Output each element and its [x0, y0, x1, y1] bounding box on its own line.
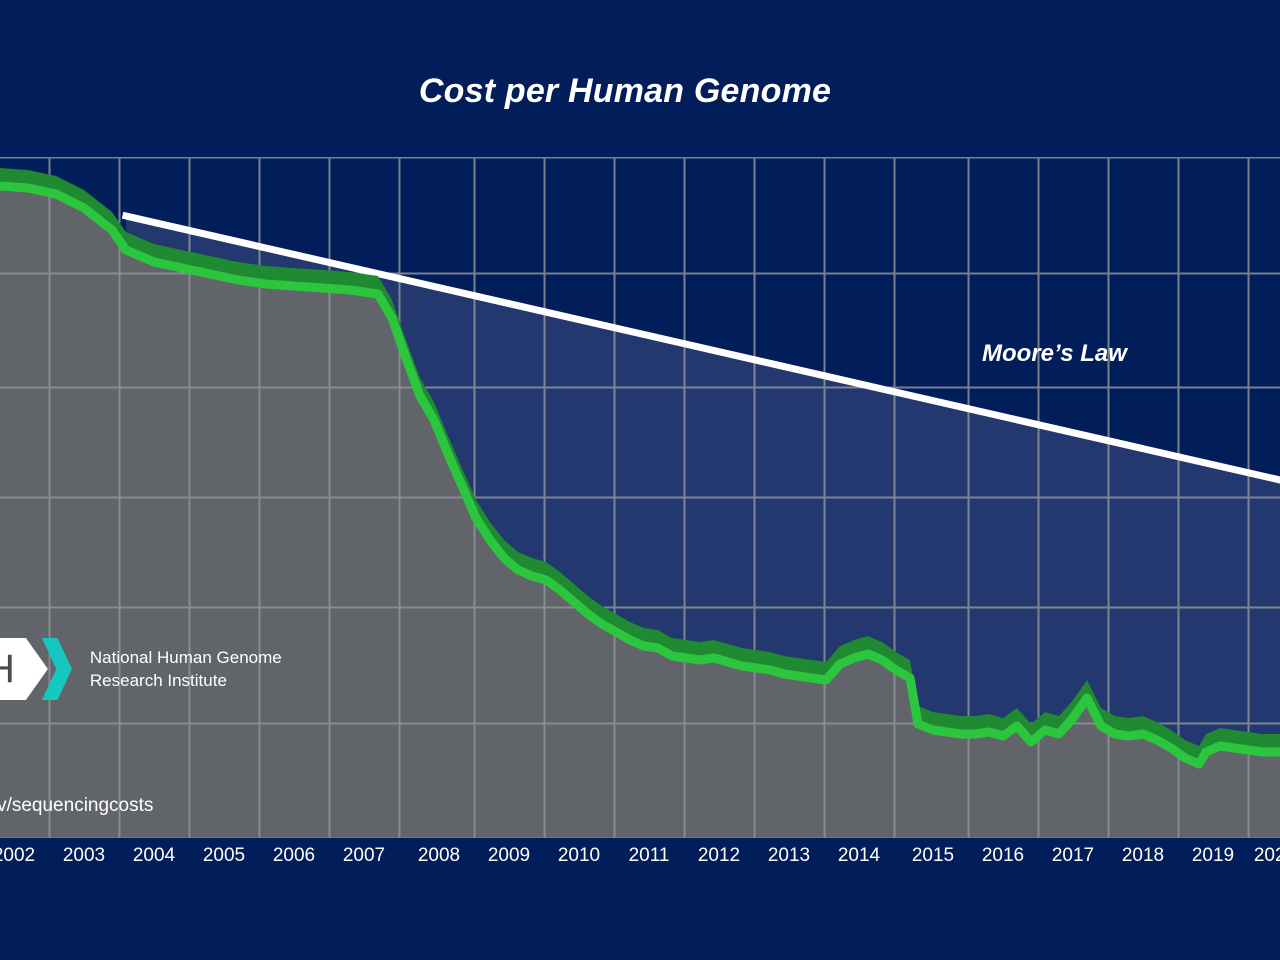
nhgri-logo: NIH National Human Genome Research Insti… [0, 638, 282, 700]
logo-text-line-1: National Human Genome [90, 646, 282, 669]
nhgri-logo-text: National Human Genome Research Institute [90, 646, 282, 693]
x-axis-tick-label: 2009 [488, 845, 530, 867]
plot-area [0, 157, 1280, 838]
chart-canvas: Cost per Human Genome [0, 0, 1280, 960]
x-axis-tick-label: 2003 [63, 845, 105, 867]
x-axis-tick-label: 2014 [838, 845, 880, 867]
x-axis-tick-label: 2013 [768, 845, 810, 867]
x-axis-tick-label: 2011 [629, 845, 670, 867]
x-axis-tick-label: 2007 [343, 845, 385, 867]
x-axis-tick-label: 2016 [982, 845, 1024, 867]
x-axis-tick-label: 2004 [133, 845, 175, 867]
x-axis-tick-label: 2005 [203, 845, 245, 867]
nih-logo-mark: NIH [0, 638, 72, 700]
moores-law-annotation: Moore’s Law [982, 340, 1127, 368]
x-axis-tick-labels: 2002200320042005200620072008200920102011… [0, 845, 1280, 885]
x-axis-tick-label: 2020 [1254, 845, 1280, 867]
chart-svg [0, 157, 1280, 838]
source-url: genome.gov/sequencingcosts [0, 795, 153, 817]
logo-text-line-2: Research Institute [90, 669, 282, 692]
x-axis-tick-label: 2010 [558, 845, 600, 867]
x-axis-tick-label: 2015 [912, 845, 954, 867]
x-axis-tick-label: 2018 [1122, 845, 1164, 867]
nih-wordmark: NIH [0, 649, 14, 689]
x-axis-tick-label: 2019 [1192, 845, 1234, 867]
x-axis-tick-label: 2002 [0, 845, 35, 867]
x-axis-tick-label: 2017 [1052, 845, 1094, 867]
x-axis-tick-label: 2012 [698, 845, 740, 867]
nih-logo-plate: NIH [0, 638, 48, 700]
page-title: Cost per Human Genome [0, 72, 1250, 111]
x-axis-tick-label: 2006 [273, 845, 315, 867]
x-axis-tick-label: 2008 [418, 845, 460, 867]
